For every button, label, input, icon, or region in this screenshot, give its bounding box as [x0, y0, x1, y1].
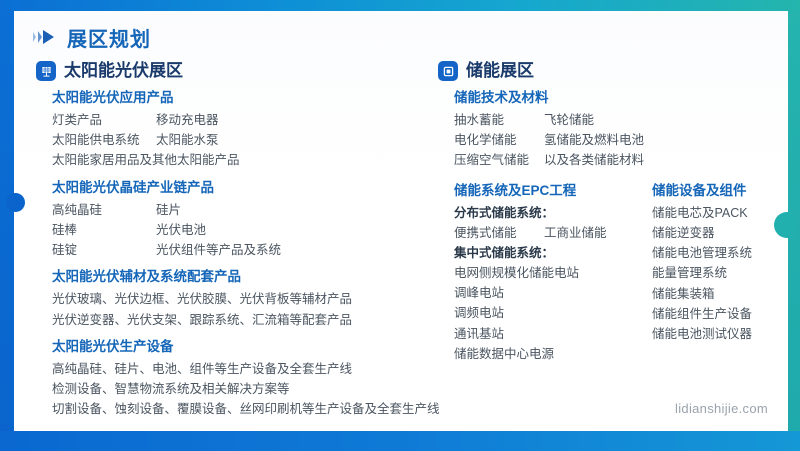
item-cell: 飞轮储能 [544, 110, 788, 130]
item-cell: 移动充电器 [156, 110, 430, 130]
sub-title: 分布式储能系统： [454, 203, 652, 223]
item-row: 灯类产品 移动充电器 [52, 110, 430, 130]
solar-group-auxiliary: 太阳能光伏辅材及系统配套产品 光伏玻璃、光伏边框、光伏胶膜、光伏背板等辅材产品 … [36, 267, 430, 329]
item-line: 调峰电站 [454, 283, 652, 303]
frame-top-bar [0, 0, 800, 11]
item-cell: 工商业储能 [544, 223, 652, 243]
item-row: 抽水蓄能 飞轮储能 [454, 110, 788, 130]
item-row: 压缩空气储能 以及各类储能材料 [454, 150, 788, 170]
group-title: 储能系统及EPC工程 [454, 181, 652, 202]
item-line: 储能集装箱 [652, 284, 800, 304]
item-line: 光伏逆变器、光伏支架、跟踪系统、汇流箱等配套产品 [52, 310, 430, 330]
battery-storage-icon [438, 61, 458, 81]
page-title: 展区规划 [67, 30, 151, 50]
solar-section-header: 太阳能光伏展区 [36, 61, 430, 81]
group-title: 太阳能光伏生产设备 [52, 337, 430, 358]
storage-split-groups: 储能系统及EPC工程 分布式储能系统： 便携式储能 工商业储能 集中式储能系统：… [438, 181, 788, 364]
item-line: 高纯晶硅、硅片、电池、组件等生产设备及全套生产线 [52, 359, 430, 379]
watermark: lidianshijie.com [675, 401, 768, 416]
solar-group-production-equipment: 太阳能光伏生产设备 高纯晶硅、硅片、电池、组件等生产设备及全套生产线 检测设备、… [36, 337, 430, 420]
item-line: 储能电池管理系统 [652, 243, 800, 263]
group-title: 太阳能光伏晶硅产业链产品 [52, 178, 430, 199]
frame-right-notch [774, 212, 796, 238]
item-line: 储能组件生产设备 [652, 304, 800, 324]
storage-section: 储能展区 储能技术及材料 抽水蓄能 飞轮储能 电化学储能 氢储能及燃料电池 压缩… [430, 61, 788, 426]
item-row: 硅棒 光伏电池 [52, 220, 430, 240]
item-line: 太阳能家居用品及其他太阳能产品 [52, 150, 430, 170]
item-line: 能量管理系统 [652, 263, 800, 283]
solar-section: 太阳能光伏展区 太阳能光伏应用产品 灯类产品 移动充电器 太阳能供电系统 太阳能… [14, 61, 430, 426]
group-title: 储能设备及组件 [652, 181, 800, 202]
item-cell: 以及各类储能材料 [544, 150, 788, 170]
item-row: 硅锭 光伏组件等产品及系统 [52, 240, 430, 260]
page-heading: 展区规划 [32, 29, 151, 50]
item-cell: 太阳能水泵 [156, 130, 430, 150]
item-cell: 硅棒 [52, 220, 156, 240]
item-line: 电网侧规模化储能电站 [454, 263, 652, 283]
item-cell: 氢储能及燃料电池 [544, 130, 788, 150]
item-cell: 硅片 [156, 200, 430, 220]
storage-group-tech-materials: 储能技术及材料 抽水蓄能 飞轮储能 电化学储能 氢储能及燃料电池 压缩空气储能 … [438, 88, 788, 171]
item-row: 太阳能供电系统 太阳能水泵 [52, 130, 430, 150]
item-cell: 高纯晶硅 [52, 200, 156, 220]
item-cell: 抽水蓄能 [454, 110, 544, 130]
item-cell: 光伏组件等产品及系统 [156, 240, 430, 260]
item-line: 储能电池测试仪器 [652, 324, 800, 344]
item-line: 光伏玻璃、光伏边框、光伏胶膜、光伏背板等辅材产品 [52, 289, 430, 309]
storage-section-title: 储能展区 [466, 62, 534, 81]
group-title: 太阳能光伏辅材及系统配套产品 [52, 267, 430, 288]
item-line: 储能数据中心电源 [454, 344, 652, 364]
storage-group-epc: 储能系统及EPC工程 分布式储能系统： 便携式储能 工商业储能 集中式储能系统：… [454, 181, 652, 364]
frame-left-notch [6, 193, 25, 212]
item-line: 通讯基站 [454, 324, 652, 344]
solar-group-silicon-chain: 太阳能光伏晶硅产业链产品 高纯晶硅 硅片 硅棒 光伏电池 硅锭 光伏组件等产品及… [36, 178, 430, 261]
item-cell: 压缩空气储能 [454, 150, 544, 170]
item-cell: 电化学储能 [454, 130, 544, 150]
frame-left-bar [0, 0, 14, 451]
solar-panel-icon [36, 61, 56, 81]
group-title: 储能技术及材料 [454, 88, 788, 109]
storage-section-header: 储能展区 [438, 61, 788, 81]
item-row: 便携式储能 工商业储能 [454, 223, 652, 243]
item-row: 高纯晶硅 硅片 [52, 200, 430, 220]
item-cell: 太阳能供电系统 [52, 130, 156, 150]
item-cell: 便携式储能 [454, 223, 544, 243]
solar-group-applications: 太阳能光伏应用产品 灯类产品 移动充电器 太阳能供电系统 太阳能水泵 太阳能家居… [36, 88, 430, 171]
solar-section-title: 太阳能光伏展区 [64, 62, 183, 81]
exhibition-columns: 太阳能光伏展区 太阳能光伏应用产品 灯类产品 移动充电器 太阳能供电系统 太阳能… [14, 61, 788, 426]
frame-bottom-bar [0, 431, 800, 451]
content-card: 展区规划 太阳能光伏展区 [14, 11, 788, 431]
item-line: 调频电站 [454, 303, 652, 323]
item-cell: 光伏电池 [156, 220, 430, 240]
sub-title: 集中式储能系统： [454, 243, 652, 263]
item-cell: 灯类产品 [52, 110, 156, 130]
item-line: 检测设备、智慧物流系统及相关解决方案等 [52, 379, 430, 399]
item-row: 电化学储能 氢储能及燃料电池 [454, 130, 788, 150]
arrow-right-icon [32, 29, 58, 50]
group-title: 太阳能光伏应用产品 [52, 88, 430, 109]
item-line: 切割设备、蚀刻设备、覆膜设备、丝网印刷机等生产设备及全套生产线 [52, 399, 430, 419]
item-cell: 硅锭 [52, 240, 156, 260]
storage-group-devices: 储能设备及组件 储能电芯及PACK 储能逆变器 储能电池管理系统 能量管理系统 … [652, 181, 800, 364]
